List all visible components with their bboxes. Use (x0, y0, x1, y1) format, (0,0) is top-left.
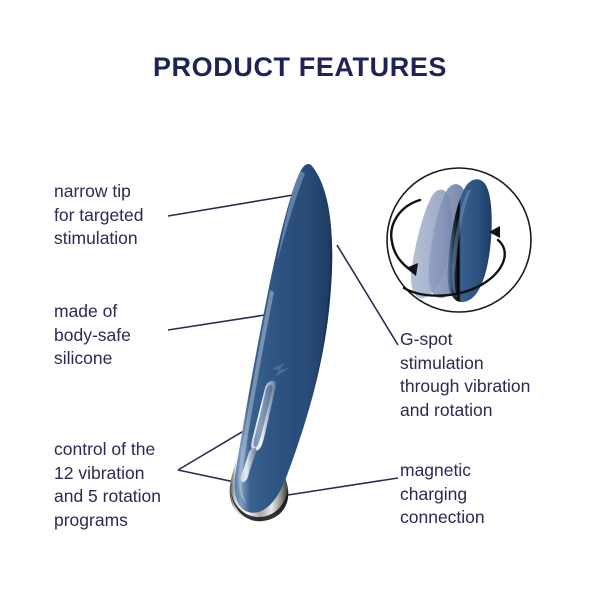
leader-line-magnetic (288, 478, 398, 495)
callout-body-safe-silicone: made of body-safe silicone (54, 300, 229, 371)
rotation-diagram (387, 168, 531, 312)
callout-control-programs: control of the 12 vibration and 5 rotati… (54, 438, 244, 532)
product-features-infographic: PRODUCT FEATURES (0, 0, 600, 600)
callout-gspot-stimulation: G-spot stimulation through vibration and… (400, 328, 580, 422)
callout-magnetic-charging: magnetic charging connection (400, 459, 580, 530)
product-illustration (230, 164, 336, 521)
leader-line-gspot (337, 245, 398, 345)
callout-narrow-tip: narrow tip for targeted stimulation (54, 180, 229, 251)
